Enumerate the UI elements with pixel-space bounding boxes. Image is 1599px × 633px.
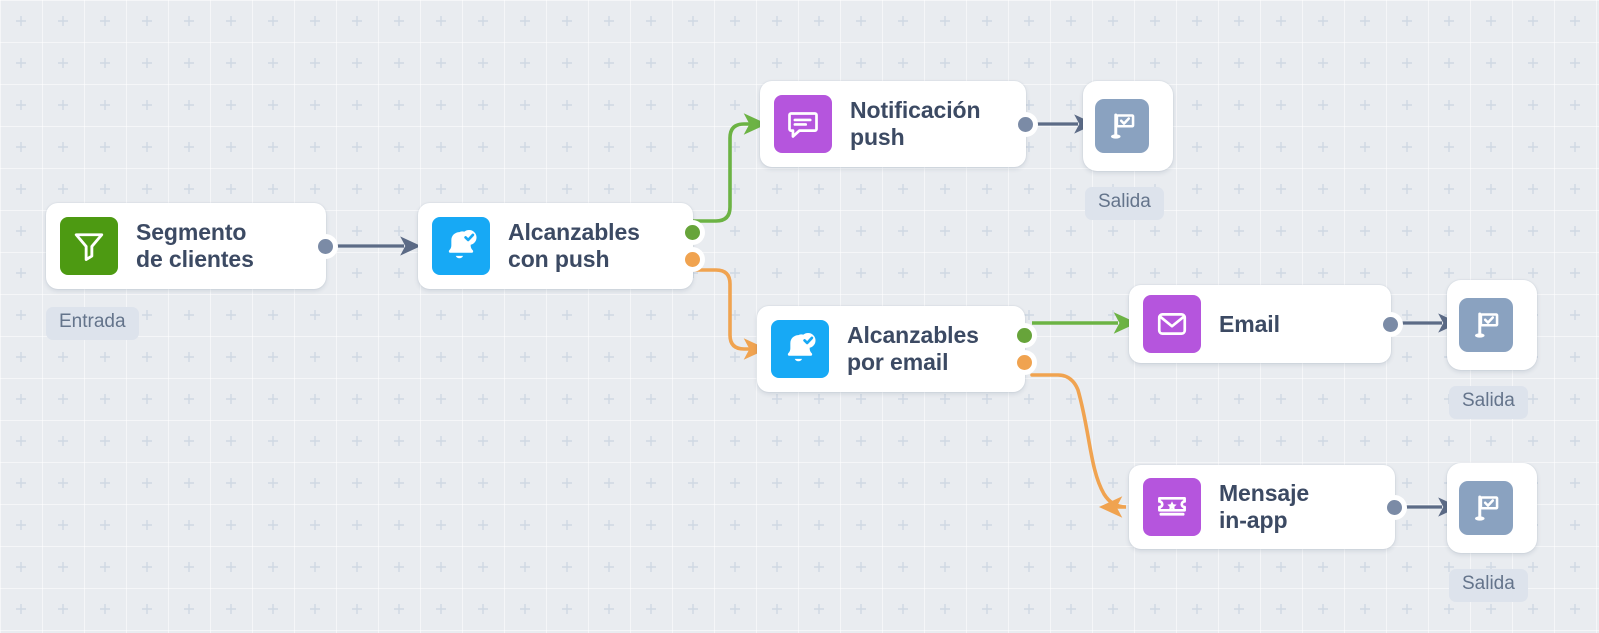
envelope-icon (1143, 295, 1201, 353)
node-salida-push[interactable] (1083, 81, 1173, 171)
output-port-orange[interactable] (685, 252, 700, 267)
node-salida-email[interactable] (1447, 280, 1537, 370)
edge-alcanzables-push-to-alcanzables-email (693, 270, 748, 349)
exit-flag-icon (1459, 481, 1513, 535)
output-port-green[interactable] (685, 225, 700, 240)
node-label: Alcanzables por email (847, 322, 979, 376)
flow-canvas[interactable]: Segmento de clientes Entrada Alcanzables… (0, 0, 1599, 633)
node-label: Alcanzables con push (508, 219, 640, 273)
output-port-orange[interactable] (1017, 355, 1032, 370)
badge-entrada: Entrada (46, 307, 139, 340)
node-mensaje-in-app[interactable]: Mensaje in-app (1129, 465, 1395, 549)
node-label: Notificación push (850, 97, 980, 151)
bell-check-icon (432, 217, 490, 275)
node-segmento-de-clientes[interactable]: Segmento de clientes (46, 203, 326, 289)
output-port-neutral[interactable] (1387, 500, 1402, 515)
node-salida-in-app[interactable] (1447, 463, 1537, 553)
node-label: Email (1219, 311, 1280, 338)
node-label: Mensaje in-app (1219, 480, 1309, 534)
badge-salida-in-app: Salida (1449, 569, 1528, 602)
push-message-icon (774, 95, 832, 153)
exit-flag-icon (1459, 298, 1513, 352)
output-port-neutral[interactable] (318, 239, 333, 254)
bell-check-icon (771, 320, 829, 378)
node-email[interactable]: Email (1129, 285, 1391, 363)
badge-salida-push: Salida (1085, 187, 1164, 220)
edge-alcanzables-push-to-notificacion (693, 124, 748, 221)
output-port-green[interactable] (1017, 328, 1032, 343)
output-port-neutral[interactable] (1383, 317, 1398, 332)
node-alcanzables-con-push[interactable]: Alcanzables con push (418, 203, 693, 289)
funnel-icon (60, 217, 118, 275)
in-app-ticket-icon (1143, 478, 1201, 536)
node-label: Segmento de clientes (136, 219, 254, 273)
node-notificacion-push[interactable]: Notificación push (760, 81, 1026, 167)
badge-salida-email: Salida (1449, 386, 1528, 419)
output-port-neutral[interactable] (1018, 117, 1033, 132)
exit-flag-icon (1095, 99, 1149, 153)
node-alcanzables-por-email[interactable]: Alcanzables por email (757, 306, 1025, 392)
edge-alcanzables-email-to-in-app (1032, 375, 1126, 507)
